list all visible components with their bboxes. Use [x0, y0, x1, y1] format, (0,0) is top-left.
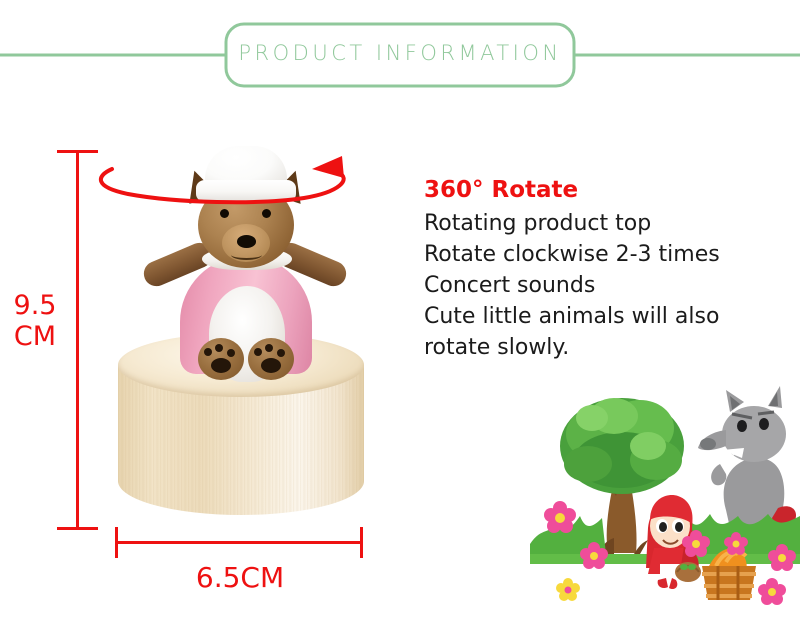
paw-pad	[265, 344, 273, 352]
wolf-illustration	[698, 386, 796, 532]
story-illustration	[530, 368, 800, 608]
paw-pad	[227, 349, 235, 357]
page-title: PRODUCT INFORMATION	[0, 40, 800, 66]
bear-eye-right	[262, 209, 271, 218]
feature-line: Rotating product top	[424, 208, 774, 239]
width-cap-right	[360, 527, 363, 558]
width-label: 6.5CM	[110, 562, 370, 594]
feature-line: rotate slowly.	[424, 332, 774, 363]
height-cap-bottom	[57, 527, 98, 530]
feature-heading: 360° Rotate	[424, 174, 774, 206]
feature-line: Cute little animals will also	[424, 301, 774, 332]
height-dimension-marker	[55, 145, 115, 540]
height-line	[76, 150, 79, 530]
feature-line: Concert sounds	[424, 270, 774, 301]
width-line	[115, 541, 363, 544]
paw-pad	[204, 348, 212, 356]
paw-pad	[277, 349, 285, 357]
bear-figurine	[140, 140, 350, 380]
bear-paw-left	[198, 338, 244, 380]
paw-pad	[211, 358, 231, 373]
bear-paw-right	[248, 338, 294, 380]
paw-pad	[254, 348, 262, 356]
chef-hat-brim	[196, 180, 296, 202]
paw-pad	[261, 358, 281, 373]
feature-line: Rotate clockwise 2-3 times	[424, 239, 774, 270]
paw-pad	[215, 344, 223, 352]
bear-nose	[237, 235, 256, 248]
height-unit: CM	[6, 321, 64, 352]
feature-description: 360° Rotate Rotating product top Rotate …	[424, 174, 774, 363]
height-label: 9.5 CM	[6, 290, 64, 352]
height-value: 9.5	[6, 290, 64, 321]
bear-eye-left	[220, 209, 229, 218]
width-dimension-marker: 6.5CM	[110, 522, 370, 592]
bear-mouth	[231, 250, 262, 260]
header-banner: PRODUCT INFORMATION	[0, 0, 800, 110]
product-photo	[100, 140, 400, 540]
